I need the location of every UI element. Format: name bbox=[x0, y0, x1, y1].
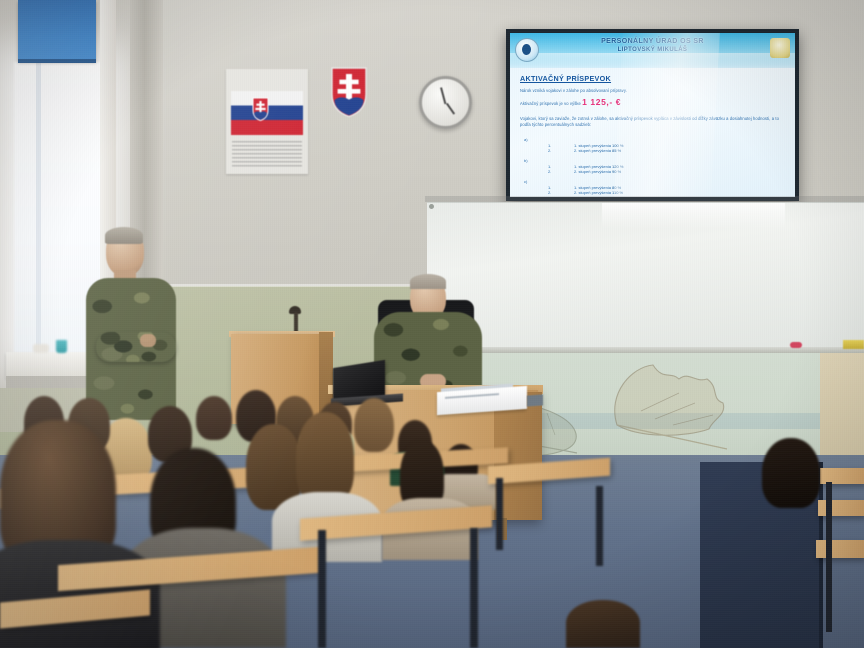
student-desk-leg bbox=[596, 486, 603, 566]
audience bbox=[0, 0, 864, 648]
student-desk-leg bbox=[496, 478, 503, 550]
classroom-photo: PERSONÁLNY ÚRAD OS SR LIPTOVSKÝ MIKULÁŠ … bbox=[0, 0, 864, 648]
student-head bbox=[196, 396, 232, 440]
student-head bbox=[354, 398, 394, 452]
student-head bbox=[566, 600, 640, 648]
student-desk-leg bbox=[470, 528, 478, 648]
student-head bbox=[296, 412, 354, 504]
student-desk-leg bbox=[318, 530, 326, 648]
student-head bbox=[762, 438, 820, 508]
